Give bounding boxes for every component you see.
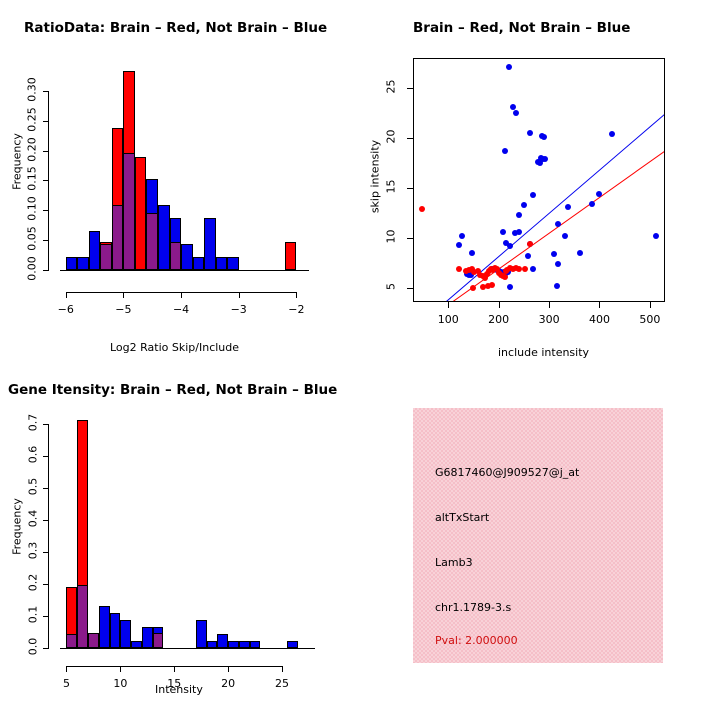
gene-y-ticklabel: 0.1 xyxy=(27,598,40,632)
ratio-x-tick xyxy=(123,292,124,298)
scatter-x-ticklabel: 400 xyxy=(583,313,615,326)
scatter-point-blue xyxy=(525,253,531,259)
scatter-x-ticklabel: 100 xyxy=(432,313,464,326)
scatter-x-tick xyxy=(599,302,600,308)
scatter-point-blue xyxy=(516,212,522,218)
scatter-point-red xyxy=(522,266,528,272)
scatter-point-blue xyxy=(589,201,595,207)
gene-x-tick xyxy=(228,666,229,672)
ratio-x-ticklabel: −5 xyxy=(111,303,135,316)
ratio-y-tick xyxy=(43,270,49,271)
histogram-bar-overlap xyxy=(88,633,99,648)
gene-y-tick xyxy=(43,424,49,425)
pval-text: Pval: 2.000000 xyxy=(435,634,518,647)
scatter-y-ticklabel: 25 xyxy=(385,75,398,99)
gene-y-ticklabel: 0.5 xyxy=(27,470,40,504)
scatter-point-blue xyxy=(540,156,546,162)
histogram-bar-blue xyxy=(99,606,110,648)
coordinate-text: chr1.1789-3.s xyxy=(435,601,511,614)
gene-histogram-baseline xyxy=(60,648,315,649)
scatter-y-ticklabel: 20 xyxy=(385,125,398,149)
scatter-point-red xyxy=(516,266,522,272)
histogram-bar-blue xyxy=(217,634,228,648)
scatter-x-ticklabel: 200 xyxy=(483,313,515,326)
histogram-bar-overlap xyxy=(112,205,124,270)
ratio-x-ticklabel: −4 xyxy=(169,303,193,316)
histogram-bar-blue xyxy=(250,641,261,648)
ratio-histogram-panel: RatioData: Brain – Red, Not Brain – Blue… xyxy=(0,0,360,360)
ratio-y-tick xyxy=(43,121,49,122)
histogram-baseline xyxy=(60,270,309,271)
gene-x-tick xyxy=(120,666,121,672)
gene-x-ticklabel: 25 xyxy=(270,677,294,690)
scatter-point-blue xyxy=(554,283,560,289)
scatter-x-tick xyxy=(448,302,449,308)
scatter-fit-lines xyxy=(360,0,720,360)
histogram-bar-blue xyxy=(207,641,218,648)
gene-y-tick xyxy=(43,616,49,617)
scatter-x-ticklabel: 500 xyxy=(634,313,666,326)
scatter-point-blue xyxy=(653,233,659,239)
histogram-bar-overlap xyxy=(66,634,77,648)
gene-y-ticklabel: 0.2 xyxy=(27,566,40,600)
histogram-bar-blue xyxy=(227,257,239,270)
scatter-point-blue xyxy=(513,110,519,116)
ratio-x-tick xyxy=(66,292,67,298)
gene-y-ticklabel: 0.3 xyxy=(27,534,40,568)
histogram-bar-blue xyxy=(204,218,216,270)
histogram-bar-blue xyxy=(216,257,228,270)
histogram-bar-blue xyxy=(131,641,142,648)
gene-x-tick xyxy=(282,666,283,672)
scatter-y-ticklabel: 15 xyxy=(385,175,398,199)
scatter-point-blue xyxy=(541,134,547,140)
histogram-bar-blue xyxy=(196,620,207,648)
scatter-y-ticklabel: 10 xyxy=(385,225,398,249)
histogram-bar-blue xyxy=(110,613,121,648)
scatter-point-red xyxy=(489,282,495,288)
histogram-bar-overlap xyxy=(100,244,112,270)
event-type-text: altTxStart xyxy=(435,511,489,524)
ratio-x-ticklabel: −3 xyxy=(227,303,251,316)
histogram-bar-blue xyxy=(120,620,131,648)
scatter-point-red xyxy=(503,268,509,274)
scatter-point-blue xyxy=(500,229,506,235)
ratio-x-tick xyxy=(296,292,297,298)
gene-y-tick xyxy=(43,552,49,553)
scatter-y-ticklabel: 5 xyxy=(385,275,398,299)
gene-y-tick xyxy=(43,456,49,457)
histogram-bar-blue xyxy=(181,244,193,270)
scatter-x-tick xyxy=(549,302,550,308)
ratio-histogram-plot-area: 0.000.050.100.150.200.250.30−6−5−4−3−2 xyxy=(0,0,360,360)
gene-y-ticklabel: 0.6 xyxy=(27,438,40,472)
scatter-point-blue xyxy=(507,243,513,249)
histogram-bar-blue xyxy=(228,641,239,648)
scatter-x-tick xyxy=(650,302,651,308)
scatter-y-tick xyxy=(407,88,413,89)
scatter-x-ticklabel: 300 xyxy=(533,313,565,326)
histogram-bar-overlap xyxy=(153,633,164,648)
gene-x-ticklabel: 5 xyxy=(54,677,78,690)
ratio-x-tick xyxy=(239,292,240,298)
histogram-bar-overlap xyxy=(146,213,158,270)
histogram-bar-blue xyxy=(239,641,250,648)
gene-x-ticklabel: 20 xyxy=(216,677,240,690)
scatter-point-blue xyxy=(507,284,513,290)
ratio-x-ticklabel: −2 xyxy=(284,303,308,316)
gene-x-ticklabel: 10 xyxy=(108,677,132,690)
gene-y-ticklabel: 0.0 xyxy=(27,630,40,664)
ratio-y-tick xyxy=(43,180,49,181)
histogram-bar-blue xyxy=(158,205,170,270)
gene-info-panel: G6817460@J909527@j_at altTxStart Lamb3 c… xyxy=(413,408,663,663)
gene-y-tick xyxy=(43,648,49,649)
histogram-bar-blue xyxy=(287,641,298,648)
histogram-bar-blue xyxy=(193,257,205,270)
ratio-y-tick xyxy=(43,91,49,92)
probe-id-text: G6817460@J909527@j_at xyxy=(435,466,579,479)
histogram-bar-overlap xyxy=(77,585,88,648)
histogram-bar-blue xyxy=(66,257,78,270)
gene-name-text: Lamb3 xyxy=(435,556,473,569)
ratio-y-tick xyxy=(43,240,49,241)
gene-y-tick xyxy=(43,584,49,585)
scatter-point-blue xyxy=(506,64,512,70)
scatter-x-tick xyxy=(499,302,500,308)
gene-y-tick xyxy=(43,520,49,521)
histogram-bar-blue xyxy=(89,231,101,270)
gene-y-ticklabel: 0.7 xyxy=(27,406,40,440)
ratio-y-tick xyxy=(43,151,49,152)
gene-x-tick xyxy=(66,666,67,672)
ratio-x-ticklabel: −6 xyxy=(54,303,78,316)
gene-y-ticklabel: 0.4 xyxy=(27,502,40,536)
scatter-y-tick xyxy=(407,238,413,239)
gene-y-tick xyxy=(43,488,49,489)
scatter-point-blue xyxy=(530,192,536,198)
scatter-panel: Brain – Red, Not Brain – Blue skip inten… xyxy=(360,0,720,360)
histogram-bar-overlap xyxy=(123,153,135,270)
scatter-y-tick xyxy=(407,288,413,289)
scatter-y-tick xyxy=(407,138,413,139)
histogram-bar-red xyxy=(285,242,297,270)
histogram-bar-blue xyxy=(142,627,153,648)
histogram-bar-overlap xyxy=(170,242,182,270)
ratio-x-tick xyxy=(181,292,182,298)
gene-x-ticklabel: 15 xyxy=(162,677,186,690)
histogram-bar-blue xyxy=(77,257,89,270)
ratio-y-ticklabel: 0.30 xyxy=(26,69,39,109)
gene-histogram-panel: Gene Itensity: Brain – Red, Not Brain – … xyxy=(0,360,360,720)
ratio-y-tick xyxy=(43,210,49,211)
scatter-plot-area: 100200300400500510152025 xyxy=(360,0,720,360)
scatter-point-blue xyxy=(521,202,527,208)
scatter-point-red xyxy=(502,274,508,280)
scatter-point-blue xyxy=(516,229,522,235)
gene-x-tick xyxy=(174,666,175,672)
gene-histogram-plot-area: 0.00.10.20.30.40.50.60.7510152025 xyxy=(0,360,360,720)
histogram-bar-red xyxy=(135,157,147,270)
gene-y-axis xyxy=(48,424,49,648)
scatter-point-blue xyxy=(530,266,536,272)
scatter-y-tick xyxy=(407,188,413,189)
